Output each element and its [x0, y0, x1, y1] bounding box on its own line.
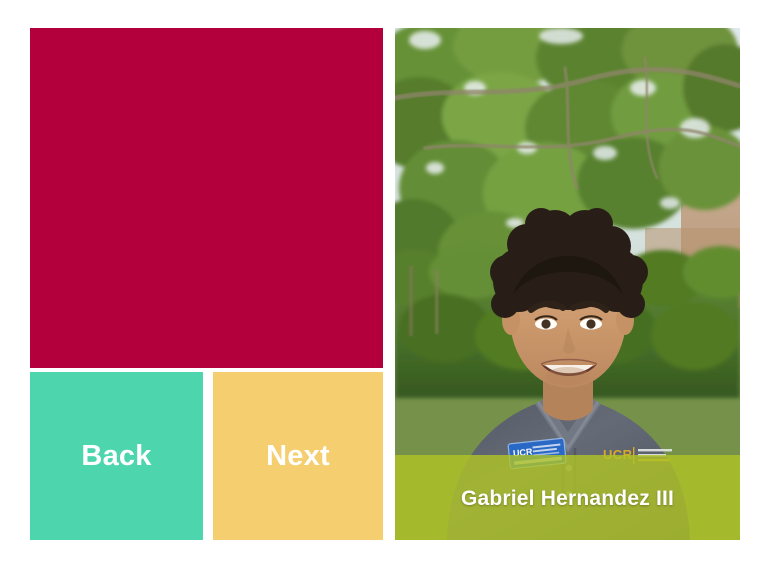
name-caption-band: Gabriel Hernandez III	[395, 455, 740, 540]
next-button[interactable]: Next	[213, 372, 383, 540]
back-button-label: Back	[81, 442, 151, 471]
next-button-label: Next	[266, 442, 330, 471]
content-panel	[30, 28, 383, 368]
profile-photo-card[interactable]: UCR UCR Gabriel Hernandez III	[395, 28, 740, 540]
back-button[interactable]: Back	[30, 372, 203, 540]
profile-name: Gabriel Hernandez III	[461, 487, 674, 511]
